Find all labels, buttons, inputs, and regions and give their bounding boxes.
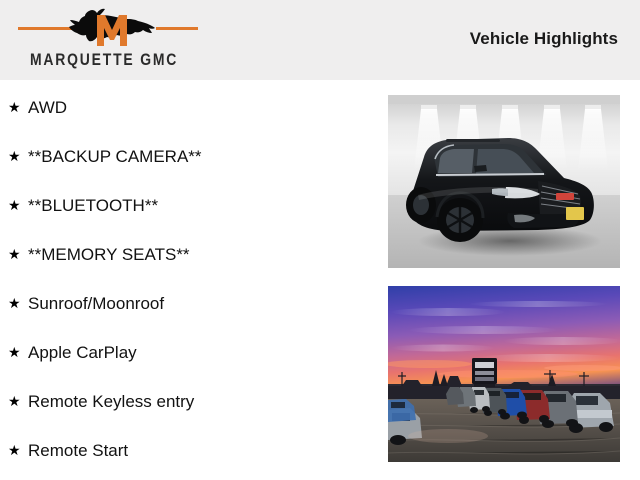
brand-logo[interactable]: MARQUETTE GMC	[8, 6, 208, 74]
list-item: ★ Apple CarPlay	[8, 341, 137, 363]
highlight-label: Remote Start	[28, 442, 128, 459]
highlight-label: **BLUETOOTH**	[28, 197, 158, 214]
list-item: ★ **BACKUP CAMERA**	[8, 145, 202, 167]
vehicle-photo-front-three-quarter[interactable]	[388, 95, 620, 268]
star-bullet-icon: ★	[8, 345, 28, 359]
page-header: MARQUETTE GMC Vehicle Highlights	[0, 0, 640, 80]
list-item: ★ **BLUETOOTH**	[8, 194, 158, 216]
list-item: ★ Remote Start	[8, 439, 128, 461]
page-title: Vehicle Highlights	[470, 29, 618, 49]
star-bullet-icon: ★	[8, 100, 28, 114]
star-bullet-icon: ★	[8, 443, 28, 457]
highlight-label: **BACKUP CAMERA**	[28, 148, 202, 165]
highlight-label: Apple CarPlay	[28, 344, 137, 361]
list-item: ★ Remote Keyless entry	[8, 390, 194, 412]
logo-mark	[8, 6, 208, 50]
dealership-photo-sunset-lot[interactable]	[388, 286, 620, 462]
highlight-label: Sunroof/Moonroof	[28, 295, 164, 312]
highlight-label: Remote Keyless entry	[28, 393, 194, 410]
star-bullet-icon: ★	[8, 296, 28, 310]
brand-name-text: MARQUETTE GMC	[30, 50, 178, 70]
content-area: ★ AWD ★ **BACKUP CAMERA** ★ **BLUETOOTH*…	[0, 80, 640, 480]
star-bullet-icon: ★	[8, 198, 28, 212]
logo-rule-right	[156, 27, 198, 30]
star-bullet-icon: ★	[8, 149, 28, 163]
list-item: ★ Sunroof/Moonroof	[8, 292, 164, 314]
highlight-label: AWD	[28, 99, 67, 116]
star-bullet-icon: ★	[8, 247, 28, 261]
list-item: ★ AWD	[8, 96, 67, 118]
vehicle-highlights-list: ★ AWD ★ **BACKUP CAMERA** ★ **BLUETOOTH*…	[0, 80, 380, 480]
list-item: ★ **MEMORY SEATS**	[8, 243, 190, 265]
highlight-label: **MEMORY SEATS**	[28, 246, 190, 263]
upper-peninsula-m-emblem-icon	[64, 6, 160, 50]
star-bullet-icon: ★	[8, 394, 28, 408]
